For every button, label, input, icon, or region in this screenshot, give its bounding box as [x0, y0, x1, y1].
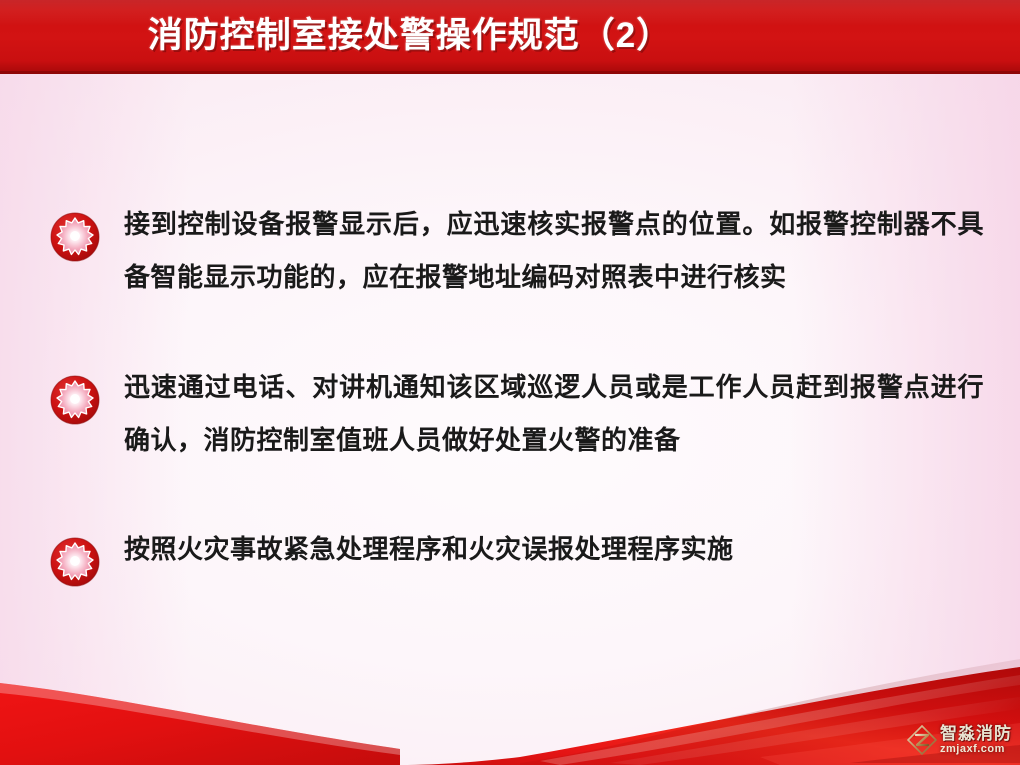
list-item-text: 按照火灾事故紧急处理程序和火灾误报处理程序实施 — [124, 523, 984, 576]
zm-monogram-icon — [907, 725, 937, 755]
gear-icon — [50, 537, 100, 587]
list-item: 迅速通过电话、对讲机通知该区域巡逻人员或是工作人员赶到报警点进行确认，消防控制室… — [44, 361, 984, 467]
watermark: 智淼消防 zmjaxf.com — [907, 723, 1012, 757]
watermark-title: 智淼消防 — [940, 725, 1012, 742]
bullet-list: 接到控制设备报警显示后，应迅速核实报警点的位置。如报警控制器不具备智能显示功能的… — [44, 190, 984, 583]
list-item: 按照火灾事故紧急处理程序和火灾误报处理程序实施 — [44, 523, 984, 583]
page-title: 消防控制室接处警操作规范（2） — [0, 6, 1020, 66]
bottom-ribbon-decoration — [0, 645, 1020, 765]
watermark-text: 智淼消防 zmjaxf.com — [940, 725, 1012, 755]
list-item: 接到控制设备报警显示后，应迅速核实报警点的位置。如报警控制器不具备智能显示功能的… — [44, 198, 984, 304]
gear-icon — [50, 212, 100, 262]
list-item-text: 迅速通过电话、对讲机通知该区域巡逻人员或是工作人员赶到报警点进行确认，消防控制室… — [124, 361, 984, 467]
gear-icon — [50, 375, 100, 425]
list-item-text: 接到控制设备报警显示后，应迅速核实报警点的位置。如报警控制器不具备智能显示功能的… — [124, 198, 984, 304]
watermark-url: zmjaxf.com — [940, 744, 1012, 755]
title-banner: 消防控制室接处警操作规范（2） — [0, 0, 1020, 74]
slide-canvas: 消防控制室接处警操作规范（2） — [0, 0, 1020, 765]
